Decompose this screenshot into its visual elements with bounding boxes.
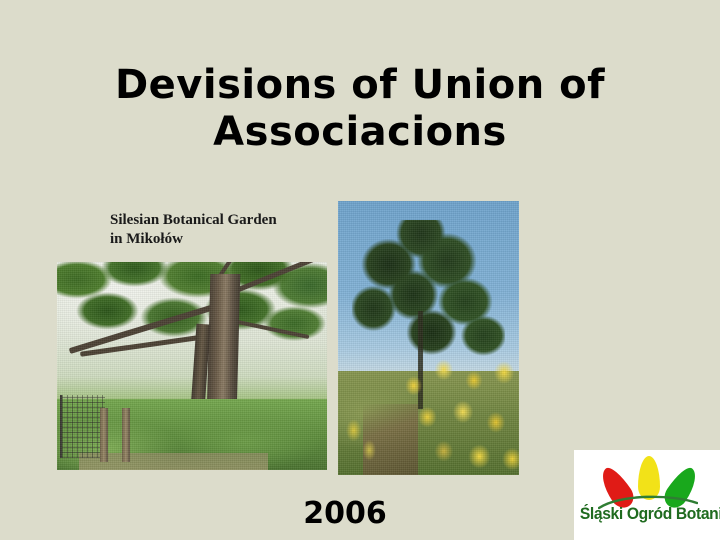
meadow-tree-photo: [338, 201, 519, 475]
logo-text: Śląski Ogród Botaniczny: [580, 504, 714, 524]
oak-wire-fence: [60, 395, 105, 457]
meadow-photo-content: [338, 201, 519, 475]
subtitle-line-2: in Mikołów: [110, 230, 340, 249]
botanical-garden-logo: Śląski Ogród Botaniczny: [574, 450, 720, 540]
subtitle: Silesian Botanical Garden in Mikołów: [110, 211, 340, 249]
logo-mark: [596, 454, 700, 506]
meadow-flowers-left: [342, 404, 382, 470]
meadow-yellow-flowers: [389, 349, 519, 475]
oak-fence-post-1: [100, 408, 108, 462]
title-line-1: Devisions of Union of: [60, 62, 660, 109]
oak-tree-photo: [57, 262, 327, 470]
subtitle-line-1: Silesian Botanical Garden: [110, 211, 340, 230]
oak-fence-post-2: [122, 408, 130, 462]
oak-photo-content: [57, 262, 327, 470]
presentation-slide: Devisions of Union of Associacions Siles…: [0, 0, 720, 540]
page-title: Devisions of Union of Associacions: [60, 62, 660, 156]
title-line-2: Associacions: [60, 109, 660, 156]
